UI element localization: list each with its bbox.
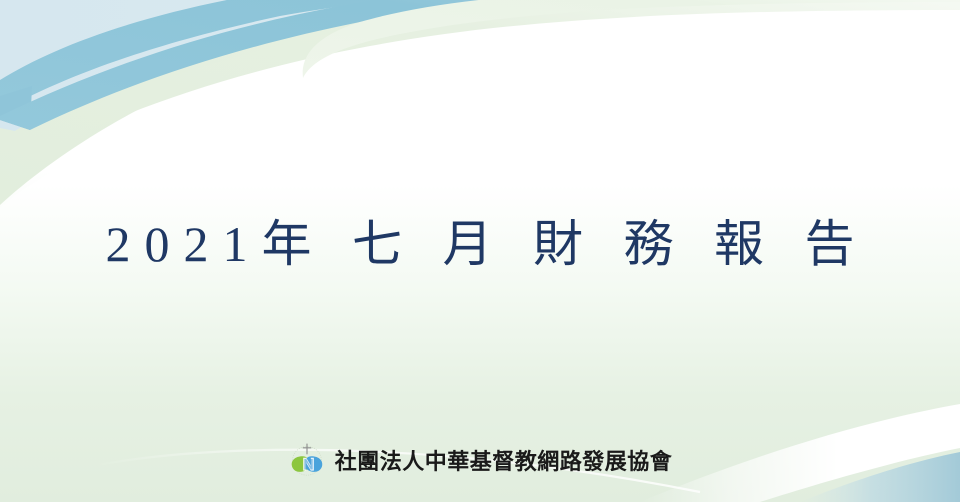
page-title: 2021年 七 月 財 務 報 告 (92, 217, 869, 272)
footer-organization-name: 社團法人中華基督教網路發展協會 (335, 444, 673, 476)
cross-icon (303, 444, 311, 454)
association-logo-icon (288, 441, 326, 479)
title-slide: 2021年 七 月 財 務 報 告 社團法人中華基督教網路發展協會 (0, 0, 960, 502)
footer: 社團法人中華基督教網路發展協會 (0, 437, 960, 483)
title-block: 2021年 七 月 財 務 報 告 (0, 196, 960, 292)
